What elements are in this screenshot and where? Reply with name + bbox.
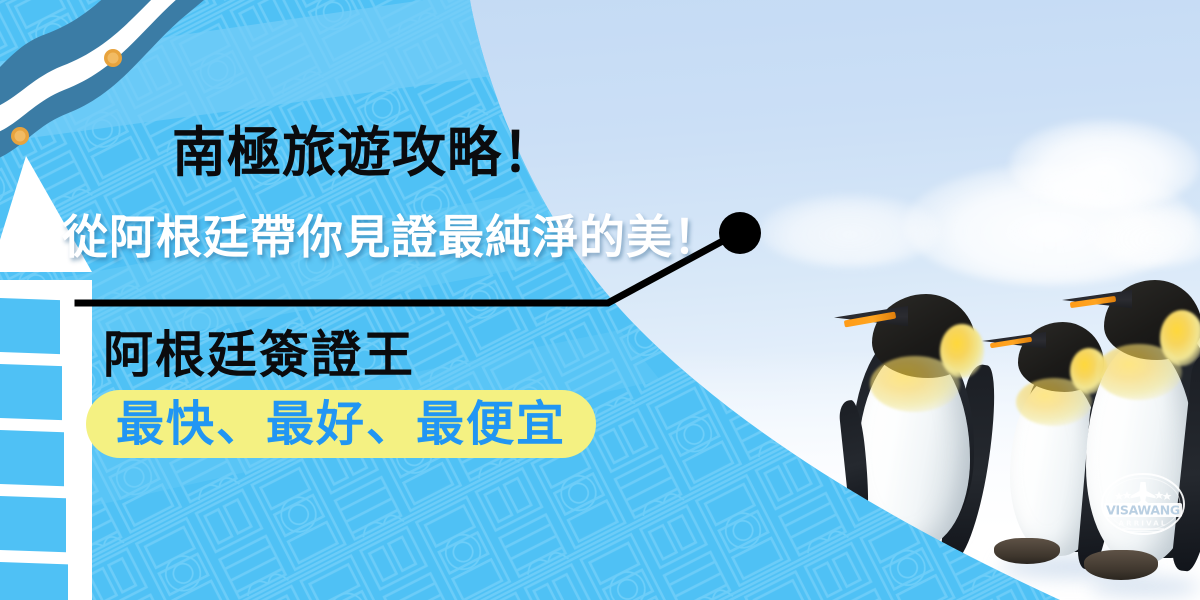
callout-pointer [60,200,780,364]
promo-banner: VISAWANG ARRIVAL [0,0,1200,600]
argentina-flag-ribbon [0,0,230,170]
sun-of-may-icon [11,127,29,145]
pointer-line [78,236,732,303]
pointer-dot [719,212,761,254]
sun-of-may-icon [104,49,122,67]
